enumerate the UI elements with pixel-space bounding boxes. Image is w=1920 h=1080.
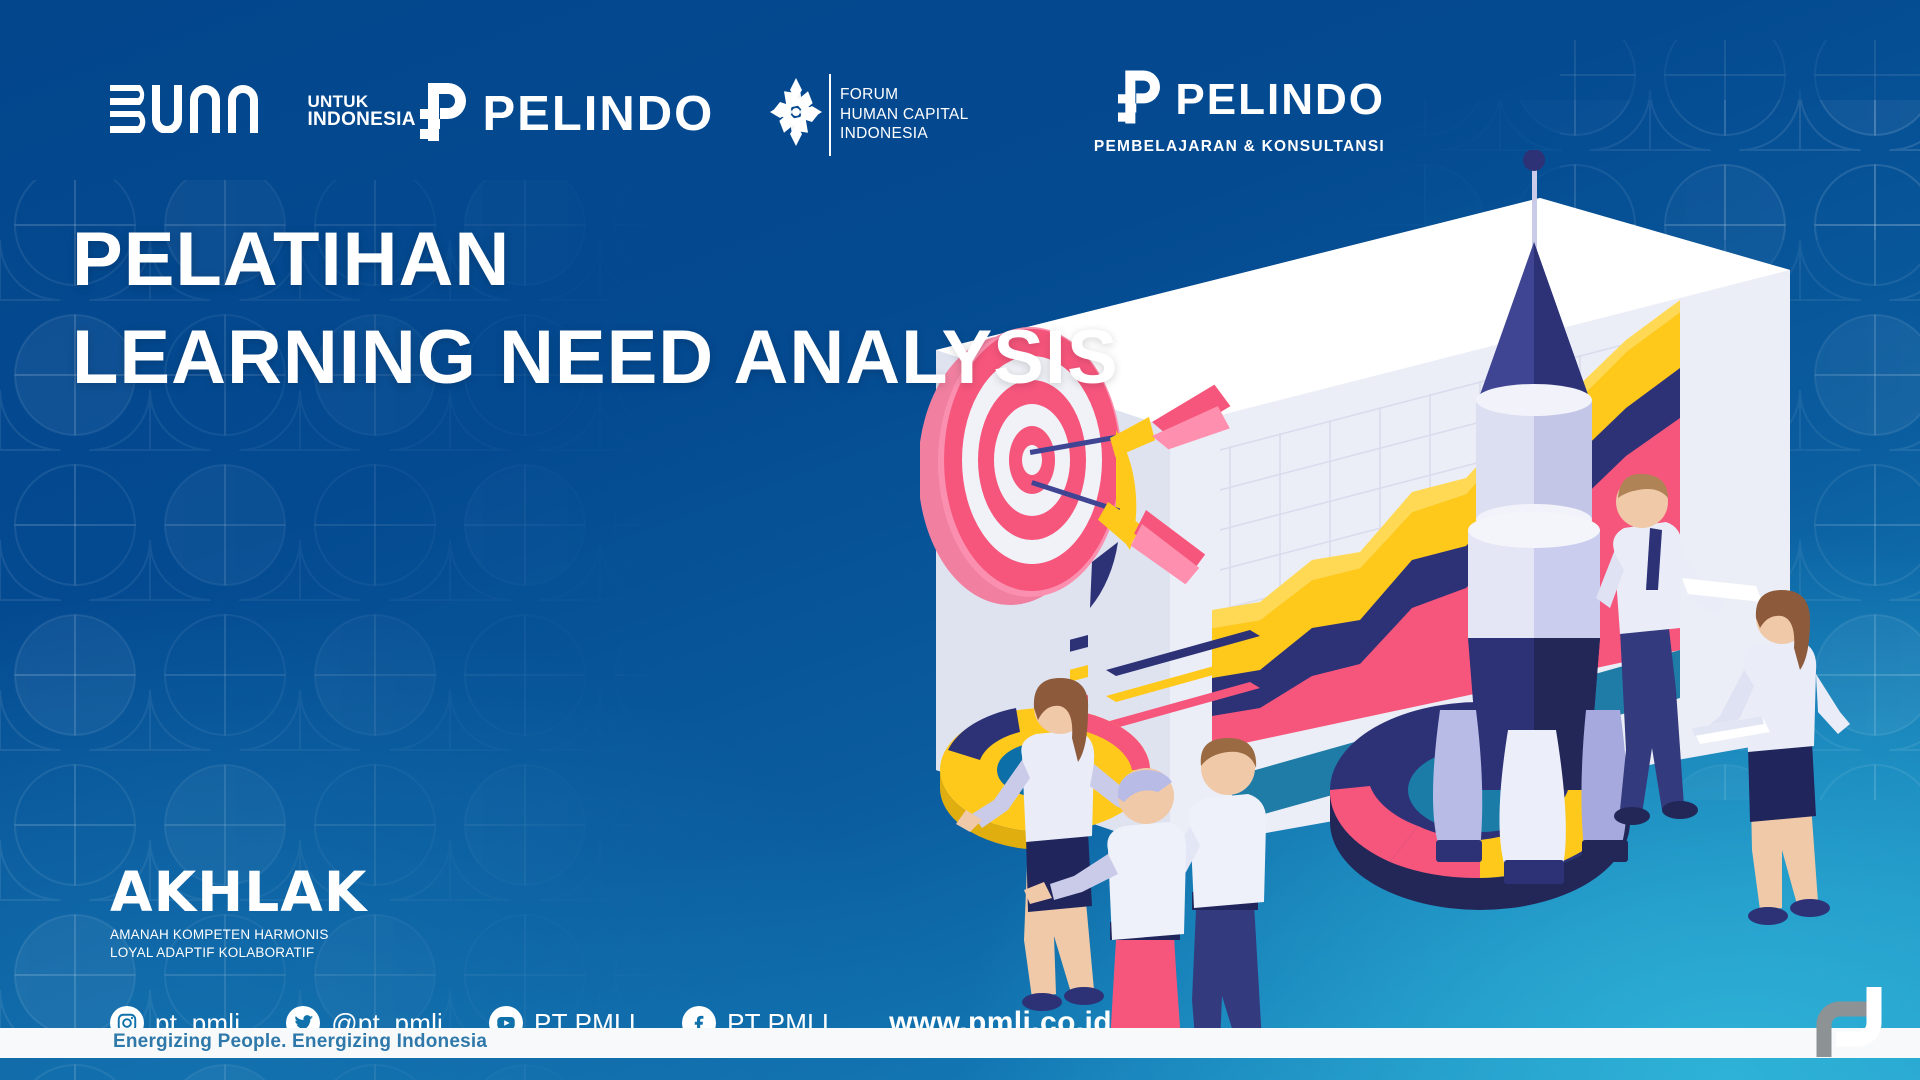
bumn-wordmark-icon [110, 85, 295, 138]
bumn-tagline-line2: INDONESIA [307, 110, 415, 129]
fhci-mandala-icon [765, 68, 827, 161]
pelindo-mark-icon-right [1118, 70, 1160, 129]
logo-bumn: UNTUK INDONESIA [110, 85, 416, 138]
logo-pelindo: PELINDO [420, 83, 714, 146]
pelindo-subtitle: PEMBELAJARAN & KONSULTANSI [1094, 138, 1385, 156]
akhlak-logo: AKHLAK AMANAH KOMPETEN HARMONIS LOYAL AD… [110, 865, 367, 962]
footer-tagline: Energizing People. Energizing Indonesia [113, 1031, 487, 1053]
pelindo-corner-watermark-icon [1816, 979, 1890, 1062]
bumn-tagline-line1: UNTUK [307, 93, 415, 110]
title-line-1: PELATIHAN [72, 222, 1119, 298]
akhlak-values-line2: LOYAL ADAPTIF KOLABORATIF [110, 944, 367, 962]
logo-pelindo-pembelajaran: PELINDO PEMBELAJARAN & KONSULTANSI [1094, 70, 1385, 156]
title-line-2: LEARNING NEED ANALYSIS [72, 320, 1119, 396]
bumn-tagline: UNTUK INDONESIA [307, 93, 415, 130]
akhlak-values-line1: AMANAH KOMPETEN HARMONIS [110, 926, 367, 944]
akhlak-wordmark: AKHLAK [110, 865, 367, 920]
page-title: PELATIHAN LEARNING NEED ANALYSIS [72, 222, 1119, 396]
pelindo-wordmark-right: PELINDO [1175, 78, 1385, 122]
fhci-line3: INDONESIA [840, 124, 969, 144]
fhci-line1: FORUM [840, 85, 969, 105]
pelindo-wordmark: PELINDO [482, 90, 714, 139]
poster-canvas: UNTUK INDONESIA PELINDO [0, 0, 1920, 1080]
fhci-line2: HUMAN CAPITAL [840, 105, 969, 125]
fhci-divider [829, 74, 831, 156]
akhlak-values: AMANAH KOMPETEN HARMONIS LOYAL ADAPTIF K… [110, 926, 367, 962]
fhci-text: FORUM HUMAN CAPITAL INDONESIA [840, 85, 969, 144]
logo-forum-human-capital-indonesia: FORUM HUMAN CAPITAL INDONESIA [765, 68, 969, 161]
logo-bar: UNTUK INDONESIA PELINDO [0, 0, 1920, 190]
pelindo-mark-icon [420, 83, 466, 146]
